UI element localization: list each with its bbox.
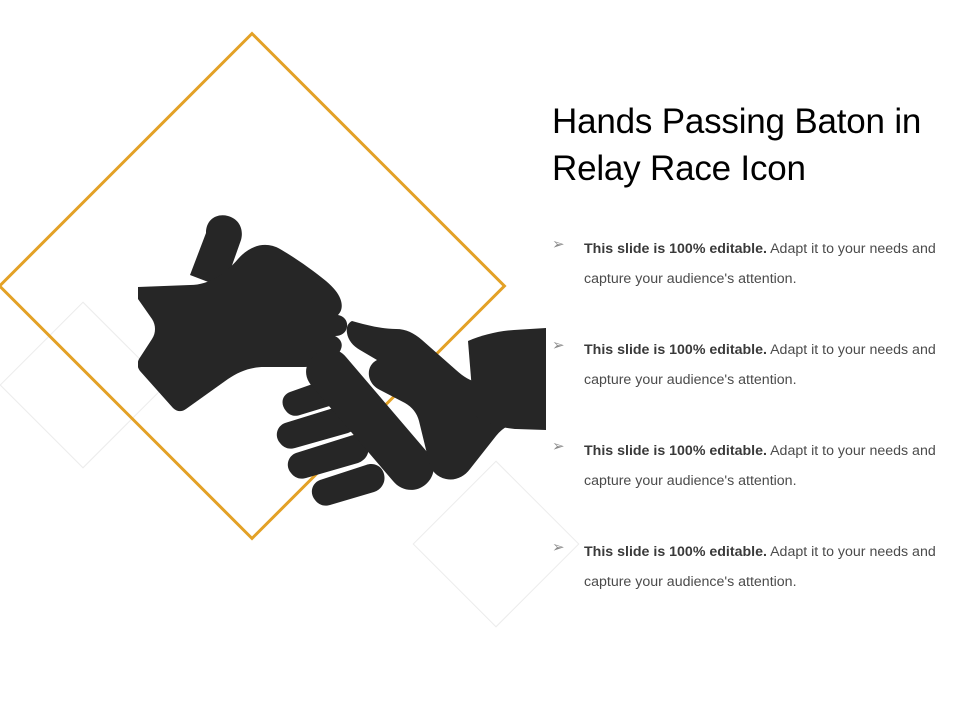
list-item-lead: This slide is 100% editable. [584, 544, 767, 560]
bullet-list: ➢ This slide is 100% editable. Adapt it … [552, 234, 942, 597]
page-title: Hands Passing Baton in Relay Race Icon [552, 98, 952, 192]
hands-passing-baton-icon [138, 215, 546, 515]
icon-visual-area [0, 0, 600, 720]
list-item: ➢ This slide is 100% editable. Adapt it … [552, 436, 936, 496]
list-item-lead: This slide is 100% editable. [584, 342, 767, 358]
slide-canvas: Hands Passing Baton in Relay Race Icon ➢… [0, 0, 960, 720]
list-item-lead: This slide is 100% editable. [584, 443, 767, 459]
list-item: ➢ This slide is 100% editable. Adapt it … [552, 537, 936, 597]
arrow-bullet-icon: ➢ [552, 537, 565, 559]
list-item-text: This slide is 100% editable. Adapt it to… [584, 241, 936, 287]
arrow-bullet-icon: ➢ [552, 234, 565, 256]
list-item-text: This slide is 100% editable. Adapt it to… [584, 544, 936, 590]
arrow-bullet-icon: ➢ [552, 335, 565, 357]
list-item-text: This slide is 100% editable. Adapt it to… [584, 342, 936, 388]
list-item: ➢ This slide is 100% editable. Adapt it … [552, 335, 936, 395]
list-item-lead: This slide is 100% editable. [584, 241, 767, 257]
content-column: Hands Passing Baton in Relay Race Icon ➢… [552, 98, 942, 597]
list-item-text: This slide is 100% editable. Adapt it to… [584, 443, 936, 489]
arrow-bullet-icon: ➢ [552, 436, 565, 458]
list-item: ➢ This slide is 100% editable. Adapt it … [552, 234, 936, 294]
